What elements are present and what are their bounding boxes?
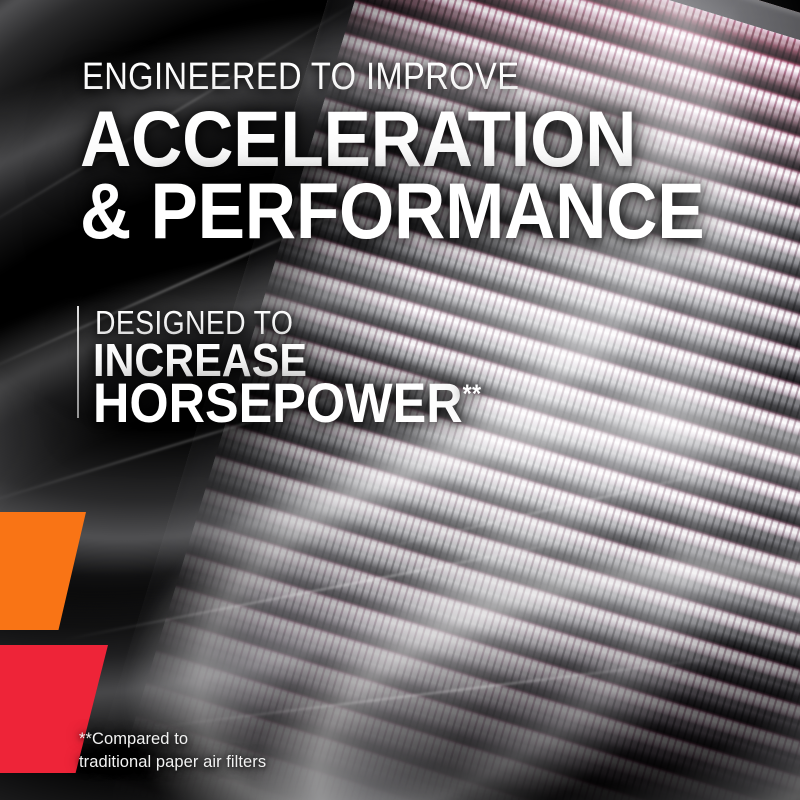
vertical-rule-icon xyxy=(77,306,79,418)
headline-line-1: ACCELERATION xyxy=(80,104,636,174)
footnote-block: **Compared to traditional paper air filt… xyxy=(79,728,266,774)
headline-line-2: & PERFORMANCE xyxy=(80,176,704,246)
footnote-marker: ** xyxy=(463,378,482,408)
smoke-filament xyxy=(152,653,748,728)
footnote-line-1: **Compared to xyxy=(79,728,266,751)
smoke-filament xyxy=(336,452,794,560)
smoke-swirl xyxy=(230,498,800,800)
footnote-line-2: traditional paper air filters xyxy=(79,751,266,774)
headline-eyebrow: ENGINEERED TO IMPROVE xyxy=(82,58,519,96)
sub-headline-line-2-text: HORSEPOWER xyxy=(93,371,463,434)
marketing-banner: ENGINEERED TO IMPROVE ACCELERATION & PER… xyxy=(0,0,800,800)
smoke-filament xyxy=(65,532,615,641)
sub-headline-line-2: HORSEPOWER** xyxy=(93,378,481,428)
